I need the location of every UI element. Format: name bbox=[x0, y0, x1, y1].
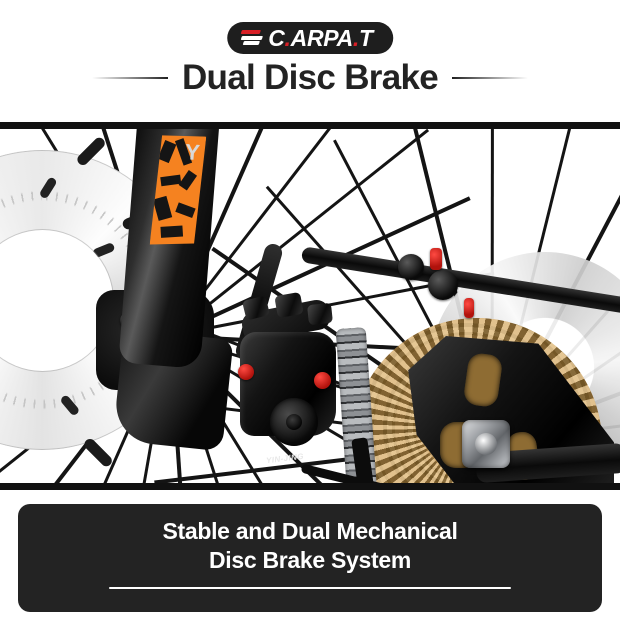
photo-top-border bbox=[0, 122, 620, 129]
brake-caliper: YIN-JING bbox=[236, 298, 340, 436]
rear-caliper-bolt bbox=[428, 270, 458, 300]
carpat-e-mark-icon bbox=[241, 29, 263, 47]
horizontal-rule-icon bbox=[109, 587, 511, 589]
rotor-slot-inner bbox=[92, 242, 116, 259]
caption-line-2: Disc Brake System bbox=[209, 546, 411, 575]
brand-wordmark: C.ARPA.T bbox=[268, 27, 373, 50]
tapered-dash-left-icon bbox=[92, 77, 168, 79]
caliper-pivot bbox=[270, 398, 318, 446]
page-title-row: Dual Disc Brake bbox=[0, 60, 620, 95]
photo-bottom-border bbox=[0, 483, 620, 490]
header: C.ARPA.T Dual Disc Brake bbox=[0, 0, 620, 122]
product-photo: Y YIN-JING INDEX HE M50 bbox=[0, 122, 620, 490]
brand-logo-pill: C.ARPA.T bbox=[227, 22, 393, 54]
rear-caliper-bolt bbox=[398, 254, 424, 280]
caliper-red-adjuster bbox=[314, 372, 331, 389]
caliper-red-adjuster bbox=[238, 364, 254, 380]
caption-line-1: Stable and Dual Mechanical bbox=[162, 517, 457, 546]
caliper-cable-stop bbox=[307, 303, 333, 325]
rear-caliper-red-accent bbox=[430, 248, 442, 270]
page-title: Dual Disc Brake bbox=[182, 60, 438, 95]
rear-axle-nut bbox=[462, 420, 510, 468]
fork-orange-decal: Y bbox=[150, 133, 207, 248]
rear-caliper-red-accent bbox=[464, 298, 474, 318]
rotor-slot-inner bbox=[59, 394, 80, 417]
fork-decal-letter: Y bbox=[184, 141, 200, 164]
caliper-barrel-adjuster bbox=[274, 292, 303, 318]
caption-banner: Stable and Dual Mechanical Disc Brake Sy… bbox=[18, 504, 602, 612]
rotor-slot-inner bbox=[39, 176, 58, 199]
tapered-dash-right-icon bbox=[452, 77, 528, 79]
